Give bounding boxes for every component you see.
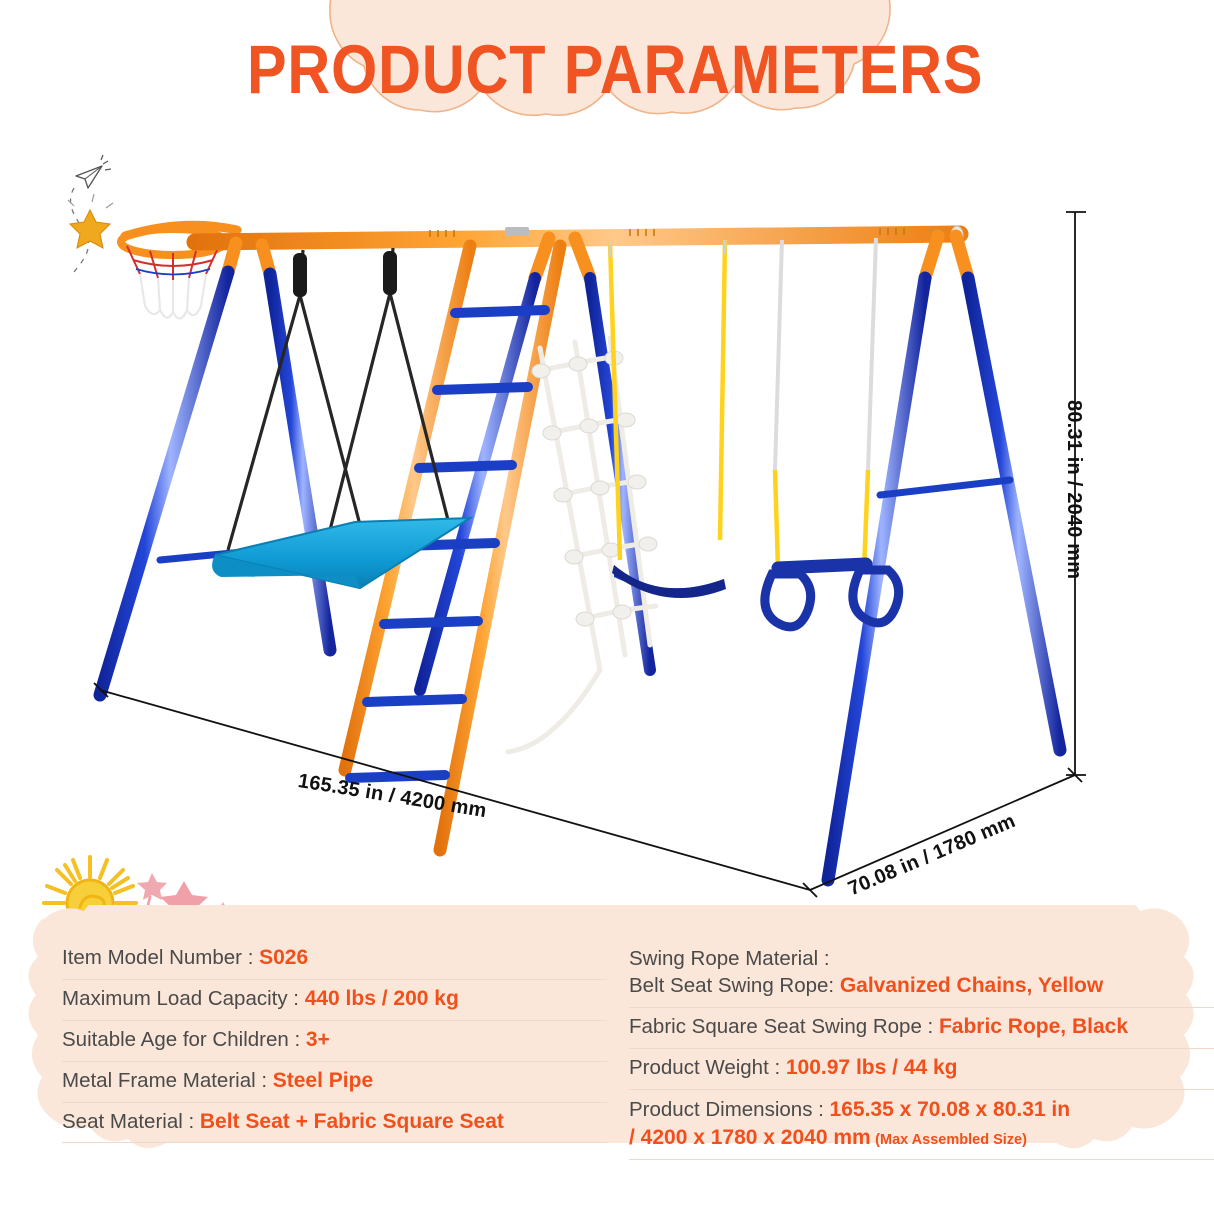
spec-value: Galvanized Chains, Yellow bbox=[840, 974, 1103, 997]
trapeze-bar bbox=[765, 238, 899, 627]
spec-column-right: Swing Rope Material : Belt Seat Swing Ro… bbox=[607, 939, 1214, 1214]
product-illustration bbox=[0, 150, 1214, 910]
spec-row: Seat Material : Belt Seat + Fabric Squar… bbox=[62, 1103, 607, 1144]
dimension-height-label: 80.31 in / 2040 mm bbox=[1062, 400, 1085, 579]
spec-value: Fabric Rope, Black bbox=[939, 1015, 1128, 1038]
spec-row: Swing Rope Material : Belt Seat Swing Ro… bbox=[629, 939, 1214, 1008]
spec-label: Seat Material : bbox=[62, 1110, 200, 1133]
spec-value: 3+ bbox=[306, 1028, 330, 1051]
spec-row: Product Dimensions : 165.35 x 70.08 x 80… bbox=[629, 1090, 1214, 1160]
spec-row: Fabric Square Seat Swing Rope : Fabric R… bbox=[629, 1008, 1214, 1049]
spec-value: S026 bbox=[259, 946, 308, 969]
spec-value: Belt Seat + Fabric Square Seat bbox=[200, 1110, 504, 1133]
title-cloud-banner: PRODUCT PARAMETERS bbox=[150, 0, 1080, 160]
spec-row: Metal Frame Material : Steel Pipe bbox=[62, 1062, 607, 1103]
spec-column-left: Item Model Number : S026 Maximum Load Ca… bbox=[40, 939, 607, 1214]
spec-value-line2: / 4200 x 1780 x 2040 mm bbox=[629, 1126, 871, 1149]
spec-value: 440 lbs / 200 kg bbox=[305, 987, 459, 1010]
spec-label: Fabric Square Seat Swing Rope : bbox=[629, 1015, 939, 1038]
spec-row: Maximum Load Capacity : 440 lbs / 200 kg bbox=[62, 980, 607, 1021]
spec-label: Item Model Number : bbox=[62, 946, 259, 969]
page-title-text: PRODUCT PARAMETERS bbox=[247, 30, 983, 109]
gold-star-doodle bbox=[68, 194, 113, 248]
spec-row: Product Weight : 100.97 lbs / 44 kg bbox=[629, 1049, 1214, 1090]
infographic-root: PRODUCT PARAMETERS bbox=[0, 0, 1214, 1214]
spec-label: Product Dimensions : bbox=[629, 1098, 830, 1121]
spec-row: Item Model Number : S026 bbox=[62, 939, 607, 980]
spec-label: Metal Frame Material : bbox=[62, 1069, 273, 1092]
spec-panel: Item Model Number : S026 Maximum Load Ca… bbox=[0, 905, 1214, 1214]
spec-group-header: Swing Rope Material : bbox=[629, 945, 1214, 972]
page-title: PRODUCT PARAMETERS bbox=[150, 0, 1080, 160]
spec-label: Belt Seat Swing Rope: bbox=[629, 974, 840, 997]
spec-value-note: (Max Assembled Size) bbox=[875, 1132, 1027, 1148]
spec-value: 165.35 x 70.08 x 80.31 in bbox=[830, 1098, 1071, 1121]
spec-label: Product Weight : bbox=[629, 1056, 786, 1079]
spec-label: Maximum Load Capacity : bbox=[62, 987, 305, 1010]
spec-label: Suitable Age for Children : bbox=[62, 1028, 306, 1051]
spec-value: Steel Pipe bbox=[273, 1069, 373, 1092]
spec-row: Suitable Age for Children : 3+ bbox=[62, 1021, 607, 1062]
spec-value: 100.97 lbs / 44 kg bbox=[786, 1056, 958, 1079]
